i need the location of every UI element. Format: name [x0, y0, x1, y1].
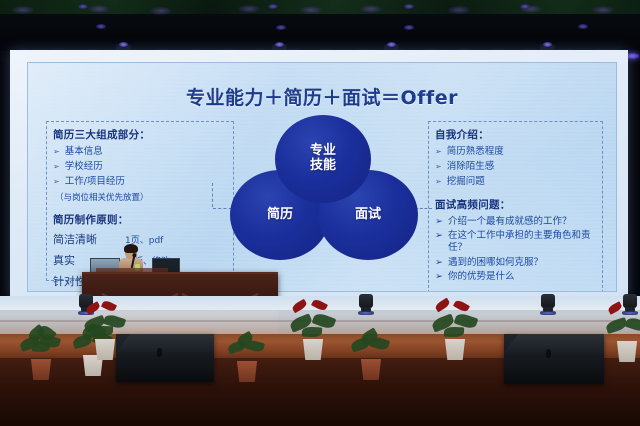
mic-stand: [358, 294, 374, 316]
question-label: 介绍一个最有成就感的工作？: [448, 216, 572, 228]
principles-heading: 简历制作原则：: [53, 212, 227, 227]
list-item-label: 基本信息: [65, 146, 227, 158]
arrow-bullet-icon: ➢: [53, 176, 60, 188]
question-label: 遇到的困哪如何克服？: [448, 257, 543, 269]
plant-pot: [359, 359, 383, 380]
principle-key: 简洁清晰: [53, 231, 125, 247]
arrow-bullet-icon: ➢: [435, 271, 443, 283]
left-panel-heading: 简历三大组成部分：: [53, 127, 227, 142]
slide-right-panel: 自我介绍： ➢ 简历熟悉程度 ➢ 消除陌生感 ➢ 挖掘问题 面试高频问题： ➢ …: [428, 121, 603, 292]
ceiling-spot-light: [276, 25, 286, 30]
arrow-bullet-icon: ➢: [53, 161, 60, 173]
ceiling-dim-light: [88, 5, 110, 13]
mic-stand: [540, 294, 556, 316]
plant-pot: [443, 339, 467, 360]
plant-foliage: [224, 324, 270, 364]
venn-circle-skills-label: 专业 技能: [310, 144, 336, 173]
ceiling-spot-light: [78, 4, 88, 9]
arrow-bullet-icon: ➢: [53, 146, 60, 158]
potted-plant: [224, 324, 270, 382]
ceiling-dim-light: [150, 7, 172, 15]
plant-foliage: [604, 304, 640, 344]
venn-circle-skills: 专业 技能: [275, 115, 371, 203]
question-item: ➢ 遇到的困哪如何克服？: [435, 257, 596, 269]
plant-foliage: [290, 302, 336, 342]
potted-plant: [604, 304, 640, 362]
ceiling-dim-light: [592, 6, 614, 14]
list-item: ➢ 消除陌生感: [435, 161, 596, 173]
potted-plant: [290, 302, 336, 360]
arrow-bullet-icon: ➢: [435, 176, 442, 188]
venn-diagram: 简历 面试 专业 技能: [228, 115, 418, 267]
ceiling-spot-light: [578, 24, 588, 29]
plant-foliage: [432, 302, 478, 342]
ceiling-dim-light: [238, 5, 260, 13]
list-item: ➢ 工作/项目经历: [53, 176, 227, 188]
potted-plant: [18, 322, 64, 380]
auditorium-scene: 专业能力＋简历＋面试＝Offer 简历三大组成部分： ➢ 基本信息 ➢ 学校经历…: [0, 0, 640, 426]
question-item: ➢ 你的优势是什么: [435, 271, 596, 283]
list-item-label: 工作/项目经历: [65, 176, 227, 188]
list-item: ➢ 简历熟悉程度: [435, 146, 596, 158]
list-item: ➢ 学校经历: [53, 161, 227, 173]
presenter-hair: [124, 244, 138, 253]
plant-pot: [301, 339, 325, 360]
potted-plant: [348, 322, 394, 380]
right-panel-heading-2: 面试高频问题：: [435, 197, 596, 212]
right-panel-heading: 自我介绍：: [435, 127, 596, 142]
principle-row: 简洁清晰 1页、pdf: [53, 231, 227, 247]
arrow-bullet-icon: ➢: [435, 216, 443, 228]
plant-pot: [615, 341, 639, 362]
potted-plant: [432, 302, 478, 360]
left-panel-note: （与岗位相关优先放置）: [55, 191, 227, 203]
question-item: ➢ 在这个工作中承担的主要角色和责任？: [435, 230, 596, 255]
floor-monitor-speaker: [116, 334, 214, 382]
arrow-bullet-icon: ➢: [435, 257, 443, 269]
plant-pot: [235, 361, 259, 382]
arrow-bullet-icon: ➢: [435, 146, 442, 158]
floor-monitor-speaker: [504, 334, 604, 384]
list-item: ➢ 挖掘问题: [435, 176, 596, 188]
question-item: ➢ 介绍一个最有成就感的工作？: [435, 216, 596, 228]
ceiling-dim-light: [300, 6, 322, 14]
list-item-label: 挖掘问题: [447, 176, 596, 188]
plant-pot: [93, 339, 117, 360]
list-item-label: 消除陌生感: [447, 161, 596, 173]
potted-plant: [82, 302, 128, 360]
ceiling-spot-light: [520, 4, 530, 9]
list-item-label: 学校经历: [65, 161, 227, 173]
plant-foliage: [348, 322, 394, 362]
arrow-bullet-icon: ➢: [435, 161, 442, 173]
question-label: 你的优势是什么: [448, 271, 515, 283]
venn-circle-resume-label: 简历: [267, 208, 293, 223]
plant-foliage: [82, 302, 128, 342]
slide-title: 专业能力＋简历＋面试＝Offer: [28, 83, 616, 110]
connector-line-vertical: [212, 183, 213, 207]
ceiling-dim-light: [448, 6, 470, 14]
plant-pot: [29, 359, 53, 380]
ceiling-spot-light: [404, 25, 414, 30]
list-item: ➢ 基本信息: [53, 146, 227, 158]
ceiling-dim-light: [360, 5, 382, 13]
ceiling-dim-light: [12, 6, 34, 14]
venn-circle-interview-label: 面试: [355, 208, 381, 223]
ceiling-spot-light: [404, 4, 414, 9]
question-label: 在这个工作中承担的主要角色和责任？: [448, 230, 596, 255]
plant-foliage: [18, 322, 64, 362]
ceiling-spot-light: [268, 4, 278, 9]
arrow-bullet-icon: ➢: [435, 230, 443, 255]
ceiling-spot-light: [96, 24, 106, 29]
list-item-label: 简历熟悉程度: [447, 146, 596, 158]
